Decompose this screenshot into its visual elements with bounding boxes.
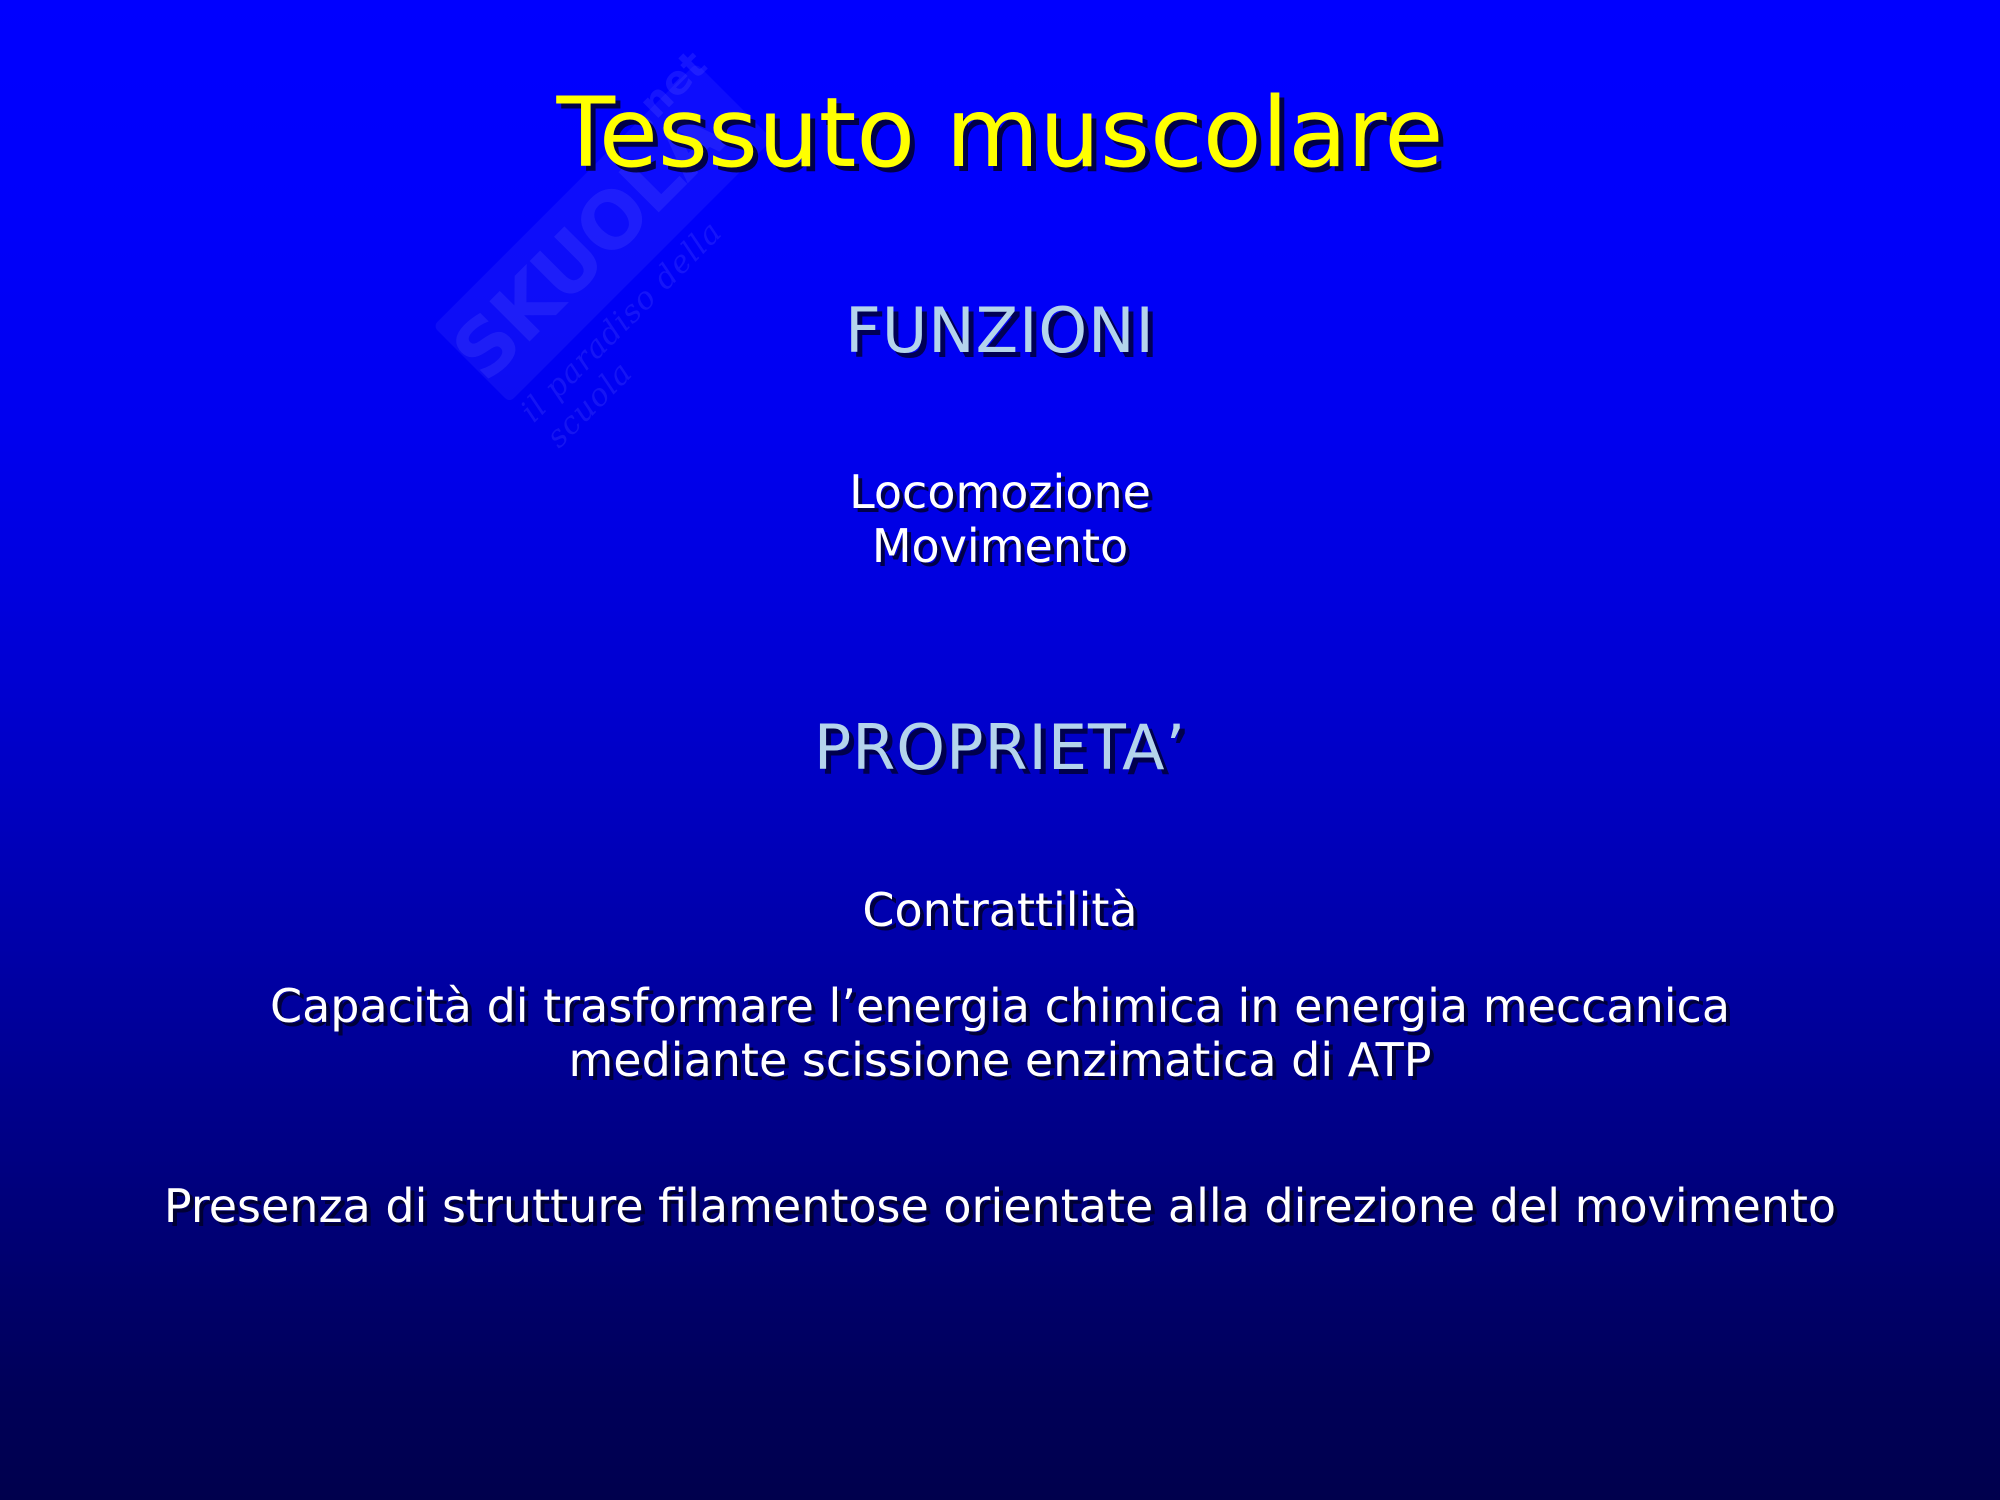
slide-title: Tessuto muscolare [0,78,2000,188]
funzioni-item-movimento: Movimento [0,518,2000,574]
proprieta-item-capacita-line1: Capacità di trasformare l’energia chimic… [0,978,2000,1034]
proprieta-item-presenza: Presenza di strutture filamentose orient… [0,1178,2000,1234]
funzioni-item-locomozione: Locomozione [0,464,2000,520]
section-heading-proprieta: PROPRIETA’ [0,712,2000,784]
slide-content: Tessuto muscolare FUNZIONI Locomozione M… [0,0,2000,1500]
presentation-slide: SKUOLA .net il paradiso della scuola Tes… [0,0,2000,1500]
proprieta-item-capacita-line2: mediante scissione enzimatica di ATP [0,1032,2000,1088]
section-heading-funzioni: FUNZIONI [0,295,2000,367]
proprieta-item-contrattilita: Contrattilità [0,882,2000,938]
